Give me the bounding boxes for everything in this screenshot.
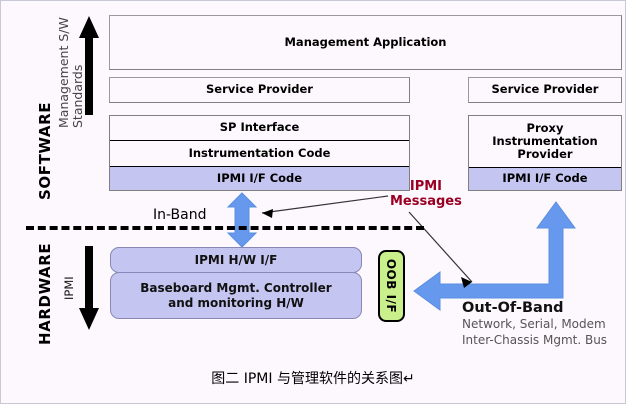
label-mgmt-standards-line1: Management S/W <box>56 17 71 128</box>
label-hardware: HARDWARE <box>36 243 54 345</box>
sp-interface-label: SP Interface <box>220 121 300 134</box>
out-of-band-subtitle: Network, Serial, Modem Inter-Chassis Mgm… <box>462 317 607 348</box>
management-application-label: Management Application <box>284 36 446 49</box>
in-band-label: In-Band <box>153 207 207 223</box>
oob-if-label: OOB I/F <box>385 259 399 313</box>
ipmi-hw-if-label: IPMI H/W I/F <box>195 253 278 268</box>
instrumentation-code-label: Instrumentation Code <box>189 147 331 160</box>
sp-interface-cell[interactable]: SP Interface <box>110 116 409 141</box>
bmc-box[interactable]: Baseboard Mgmt. Controller and monitorin… <box>110 272 362 319</box>
out-of-band-sub2: Inter-Chassis Mgmt. Bus <box>462 333 607 349</box>
label-mgmt-standards-line2: Standards <box>70 65 85 128</box>
ipmi-messages-label: IPMI Messages <box>390 180 462 209</box>
bmc-line2: and monitoring H/W <box>168 296 304 311</box>
proxy-line3: Provider <box>517 148 572 161</box>
instrumentation-code-cell[interactable]: Instrumentation Code <box>110 141 409 166</box>
service-provider-right-box[interactable]: Service Provider <box>468 77 622 103</box>
proxy-instrumentation-provider-cell[interactable]: Proxy Instrumentation Provider <box>469 116 621 168</box>
figure-canvas: SOFTWARE HARDWARE Management S/W Standar… <box>0 0 626 404</box>
left-stack: SP Interface Instrumentation Code IPMI I… <box>109 115 410 191</box>
ipmi-if-code-left-label: IPMI I/F Code <box>217 172 302 185</box>
out-of-band-sub1: Network, Serial, Modem <box>462 317 607 333</box>
label-ipmi-vertical: IPMI <box>62 276 76 300</box>
ipmi-messages-line1: IPMI <box>390 180 462 195</box>
label-software: SOFTWARE <box>36 102 54 200</box>
service-provider-left-label: Service Provider <box>206 83 313 96</box>
ipmi-if-code-right-cell[interactable]: IPMI I/F Code <box>469 168 621 190</box>
oob-if-box[interactable]: OOB I/F <box>378 250 405 322</box>
right-stack: Proxy Instrumentation Provider IPMI I/F … <box>468 115 622 191</box>
ipmi-if-code-left-cell[interactable]: IPMI I/F Code <box>110 166 409 190</box>
service-provider-left-box[interactable]: Service Provider <box>109 77 410 103</box>
figure-caption: 图二 IPMI 与管理软件的关系图↵ <box>0 368 626 388</box>
out-of-band-title: Out-Of-Band <box>462 300 564 316</box>
ipmi-if-code-right-label: IPMI I/F Code <box>502 172 587 185</box>
ipmi-messages-line2: Messages <box>390 195 462 210</box>
ipmi-hw-if-box[interactable]: IPMI H/W I/F <box>110 247 362 273</box>
service-provider-right-label: Service Provider <box>492 83 599 96</box>
software-hardware-divider <box>26 226 424 230</box>
proxy-line1: Proxy <box>527 122 564 135</box>
bmc-line1: Baseboard Mgmt. Controller <box>140 281 331 296</box>
management-application-box[interactable]: Management Application <box>109 15 622 70</box>
